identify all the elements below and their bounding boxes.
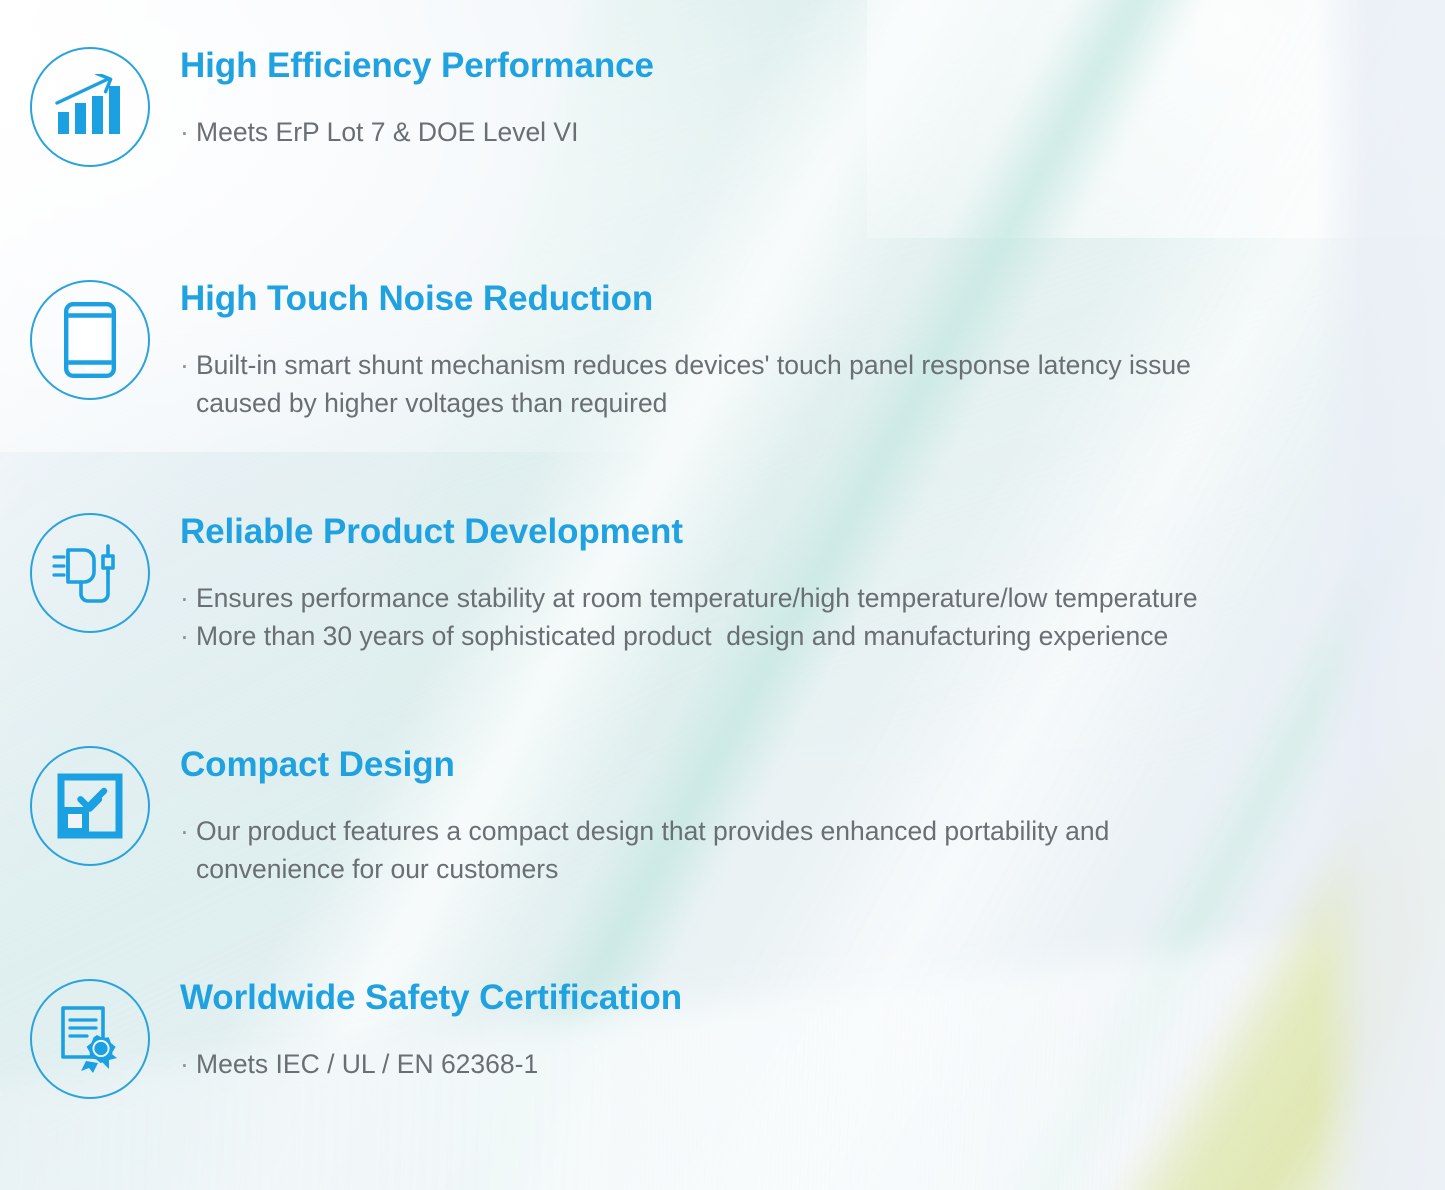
bullet-item: ·Built-in smart shunt mechanism reduces … bbox=[180, 346, 1367, 422]
bullet-marker: · bbox=[180, 113, 196, 151]
feature-bullets: ·Our product features a compact design t… bbox=[180, 812, 1367, 888]
feature-title: High Touch Noise Reduction bbox=[180, 278, 1367, 320]
bullet-text: Meets IEC / UL / EN 62368-1 bbox=[196, 1049, 538, 1079]
bullet-text: More than 30 years of sophisticated prod… bbox=[196, 621, 1168, 651]
feature-text-block: Worldwide Safety Certification ·Meets IE… bbox=[180, 977, 1445, 1083]
feature-list: High Efficiency Performance ·Meets ErP L… bbox=[0, 0, 1445, 1190]
feature-row-worldwide-safety-certification: Worldwide Safety Certification ·Meets IE… bbox=[0, 977, 1445, 1099]
bullet-marker: · bbox=[180, 812, 196, 850]
feature-divider bbox=[180, 795, 1367, 798]
feature-bullets: ·Meets IEC / UL / EN 62368-1 bbox=[180, 1045, 1367, 1083]
bullet-item: ·Ensures performance stability at room t… bbox=[180, 579, 1367, 617]
bar-chart-growth-icon bbox=[54, 74, 126, 140]
icon-circle bbox=[30, 47, 150, 167]
bullet-text: Built-in smart shunt mechanism reduces d… bbox=[196, 350, 1191, 380]
feature-icon-wrap bbox=[0, 511, 180, 633]
certificate-award-icon bbox=[57, 1005, 123, 1073]
bullet-item: ·More than 30 years of sophisticated pro… bbox=[180, 617, 1367, 655]
feature-title: Reliable Product Development bbox=[180, 511, 1367, 553]
smartphone-icon bbox=[64, 302, 116, 378]
feature-row-reliable-product-development: Reliable Product Development ·Ensures pe… bbox=[0, 511, 1445, 655]
feature-icon-wrap bbox=[0, 744, 180, 866]
feature-bullets: ·Ensures performance stability at room t… bbox=[180, 579, 1367, 655]
bullet-text-continuation: convenience for our customers bbox=[180, 850, 1367, 888]
feature-divider bbox=[180, 96, 1367, 99]
feature-text-block: Reliable Product Development ·Ensures pe… bbox=[180, 511, 1445, 655]
compact-resize-icon bbox=[57, 773, 123, 839]
bullet-item: ·Our product features a compact design t… bbox=[180, 812, 1367, 888]
feature-text-block: Compact Design ·Our product features a c… bbox=[180, 744, 1445, 888]
bullet-marker: · bbox=[180, 346, 196, 384]
feature-row-high-efficiency-performance: High Efficiency Performance ·Meets ErP L… bbox=[0, 45, 1445, 167]
feature-icon-wrap bbox=[0, 278, 180, 400]
feature-divider bbox=[180, 329, 1367, 332]
icon-circle bbox=[30, 746, 150, 866]
icon-circle bbox=[30, 280, 150, 400]
feature-icon-wrap bbox=[0, 977, 180, 1099]
power-adapter-icon bbox=[52, 538, 128, 608]
feature-bullets: ·Built-in smart shunt mechanism reduces … bbox=[180, 346, 1367, 422]
feature-divider bbox=[180, 1028, 1367, 1031]
feature-text-block: High Touch Noise Reduction ·Built-in sma… bbox=[180, 278, 1445, 422]
bullet-text: Our product features a compact design th… bbox=[196, 816, 1109, 846]
feature-row-compact-design: Compact Design ·Our product features a c… bbox=[0, 744, 1445, 888]
bullet-marker: · bbox=[180, 1045, 196, 1083]
bullet-item: ·Meets IEC / UL / EN 62368-1 bbox=[180, 1045, 1367, 1083]
bullet-marker: · bbox=[180, 617, 196, 655]
feature-title: Worldwide Safety Certification bbox=[180, 977, 1367, 1019]
icon-circle bbox=[30, 513, 150, 633]
bullet-text: Meets ErP Lot 7 & DOE Level VI bbox=[196, 117, 578, 147]
feature-bullets: ·Meets ErP Lot 7 & DOE Level VI bbox=[180, 113, 1367, 151]
feature-title: Compact Design bbox=[180, 744, 1367, 786]
feature-row-high-touch-noise-reduction: High Touch Noise Reduction ·Built-in sma… bbox=[0, 278, 1445, 422]
bullet-item: ·Meets ErP Lot 7 & DOE Level VI bbox=[180, 113, 1367, 151]
feature-divider bbox=[180, 562, 1367, 565]
icon-circle bbox=[30, 979, 150, 1099]
feature-text-block: High Efficiency Performance ·Meets ErP L… bbox=[180, 45, 1445, 151]
bullet-marker: · bbox=[180, 579, 196, 617]
bullet-text: Ensures performance stability at room te… bbox=[196, 583, 1198, 613]
feature-icon-wrap bbox=[0, 45, 180, 167]
bullet-text-continuation: caused by higher voltages than required bbox=[180, 384, 1367, 422]
feature-title: High Efficiency Performance bbox=[180, 45, 1367, 87]
